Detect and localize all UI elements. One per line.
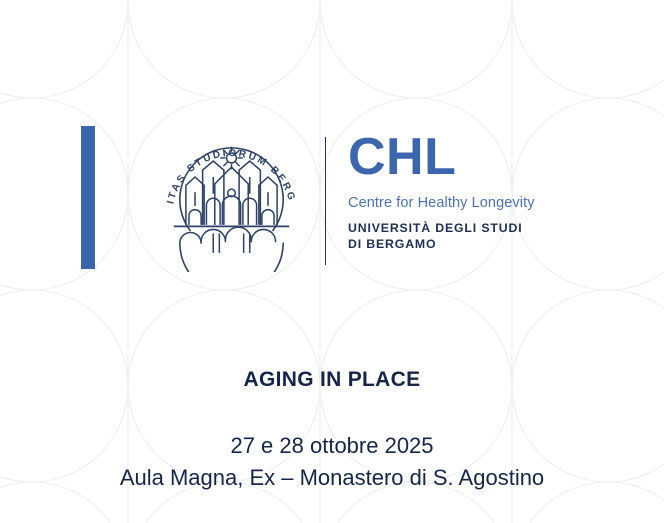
university-name-line-2: DI BERGAMO	[348, 237, 608, 253]
chl-tagline: Centre for Healthy Longevity	[348, 194, 608, 212]
logo-lockup: · UNIVERSITAS STUDIORUM BERGOMENSIS ·	[81, 120, 581, 275]
brand-text-group: CHL Centre for Healthy Longevity UNIVERS…	[348, 129, 608, 252]
university-name: UNIVERSITÀ DEGLI STUDI DI BERGAMO	[348, 221, 608, 252]
event-info-block: AGING IN PLACE 27 e 28 ottobre 2025 Aula…	[0, 366, 664, 494]
lockup-divider	[325, 137, 326, 265]
event-dates: 27 e 28 ottobre 2025	[0, 430, 664, 462]
event-title: AGING IN PLACE	[0, 366, 664, 393]
chl-wordmark: CHL	[348, 129, 608, 185]
presentation-slide: · UNIVERSITAS STUDIORUM BERGOMENSIS ·	[0, 0, 664, 523]
event-venue: Aula Magna, Ex – Monastero di S. Agostin…	[0, 462, 664, 494]
accent-bar	[81, 126, 95, 269]
university-name-line-1: UNIVERSITÀ DEGLI STUDI	[348, 221, 608, 237]
svg-text:· UNIVERSITAS STUDIORUM BERGOM: · UNIVERSITAS STUDIORUM BERGOMENSIS ·	[154, 120, 297, 205]
event-details: 27 e 28 ottobre 2025 Aula Magna, Ex – Mo…	[0, 430, 664, 494]
university-of-bergamo-seal-icon: · UNIVERSITAS STUDIORUM BERGOMENSIS ·	[154, 120, 309, 272]
